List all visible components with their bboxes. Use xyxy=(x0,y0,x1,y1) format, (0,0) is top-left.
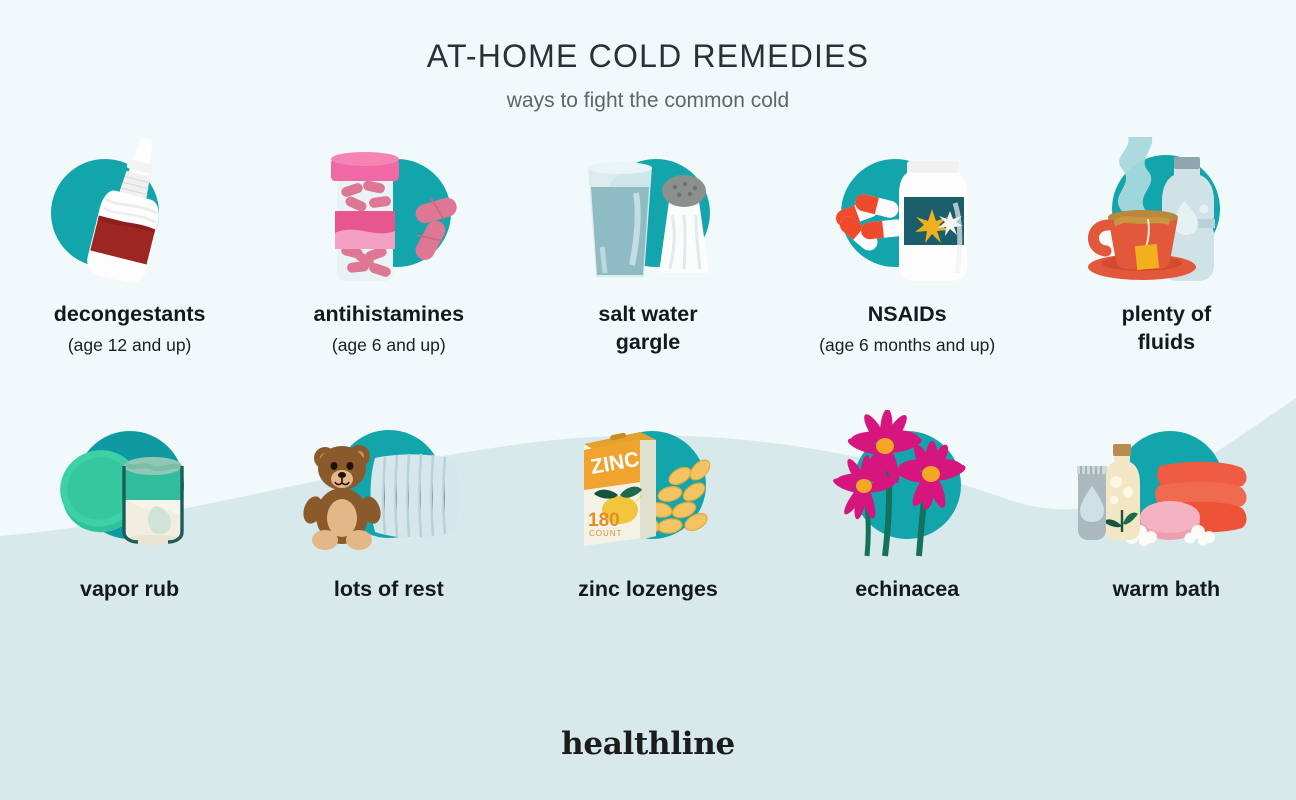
tea-and-water-icon xyxy=(1066,135,1266,285)
remedy-item: ZINC 180 COUNT zinc lozenges xyxy=(518,410,777,604)
remedy-label: lots of rest xyxy=(334,576,444,604)
remedy-label: zinc lozenges xyxy=(578,576,718,604)
remedy-row-2: vapor rub xyxy=(0,410,1296,604)
remedy-item: antihistamines (age 6 and up) xyxy=(259,135,518,362)
remedy-item: vapor rub xyxy=(0,410,259,604)
infographic-body: AT-HOME COLD REMEDIES ways to fight the … xyxy=(0,0,1296,800)
remedy-item: salt watergargle xyxy=(518,135,777,362)
zinc-count-text: 180 xyxy=(588,510,620,531)
remedy-sublabel: (age 12 and up) xyxy=(68,334,192,357)
remedy-item: echinacea xyxy=(778,410,1037,604)
nsaid-bottle-icon xyxy=(807,135,1007,285)
remedy-label: antihistamines xyxy=(314,301,465,329)
teddy-bear-pillow-icon xyxy=(289,410,489,560)
remedy-item: warm bath xyxy=(1037,410,1296,604)
remedy-item: decongestants (age 12 and up) xyxy=(0,135,259,362)
remedy-item: NSAIDs (age 6 months and up) xyxy=(778,135,1037,362)
echinacea-flowers-icon xyxy=(807,410,1007,560)
page-title: AT-HOME COLD REMEDIES xyxy=(0,38,1296,75)
page-subtitle: ways to fight the common cold xyxy=(0,89,1296,113)
remedy-label: vapor rub xyxy=(80,576,179,604)
remedy-label: echinacea xyxy=(855,576,959,604)
remedy-label-line1: salt watergargle xyxy=(598,302,697,354)
remedy-label: decongestants xyxy=(54,301,206,329)
remedy-item: lots of rest xyxy=(259,410,518,604)
footer: healthline xyxy=(0,726,1296,762)
vapor-rub-jar-icon xyxy=(30,410,230,560)
remedy-label: warm bath xyxy=(1113,576,1221,604)
healthline-logo: healthline xyxy=(561,726,735,762)
pill-bottle-icon xyxy=(289,135,489,285)
remedy-item: plenty offluids xyxy=(1037,135,1296,362)
remedy-row-1: decongestants (age 12 and up) xyxy=(0,135,1296,362)
remedy-label: plenty offluids xyxy=(1122,301,1212,357)
zinc-count-unit-text: COUNT xyxy=(589,529,622,538)
salt-water-glass-icon xyxy=(548,135,748,285)
remedy-sublabel: (age 6 months and up) xyxy=(819,334,995,357)
header: AT-HOME COLD REMEDIES ways to fight the … xyxy=(0,0,1296,113)
remedy-label: salt watergargle xyxy=(598,301,697,357)
warm-bath-icon xyxy=(1066,410,1266,560)
zinc-box-icon: ZINC 180 COUNT xyxy=(548,410,748,560)
remedy-sublabel: (age 6 and up) xyxy=(332,334,446,357)
nasal-spray-icon xyxy=(30,135,230,285)
remedy-label: NSAIDs xyxy=(868,301,947,329)
